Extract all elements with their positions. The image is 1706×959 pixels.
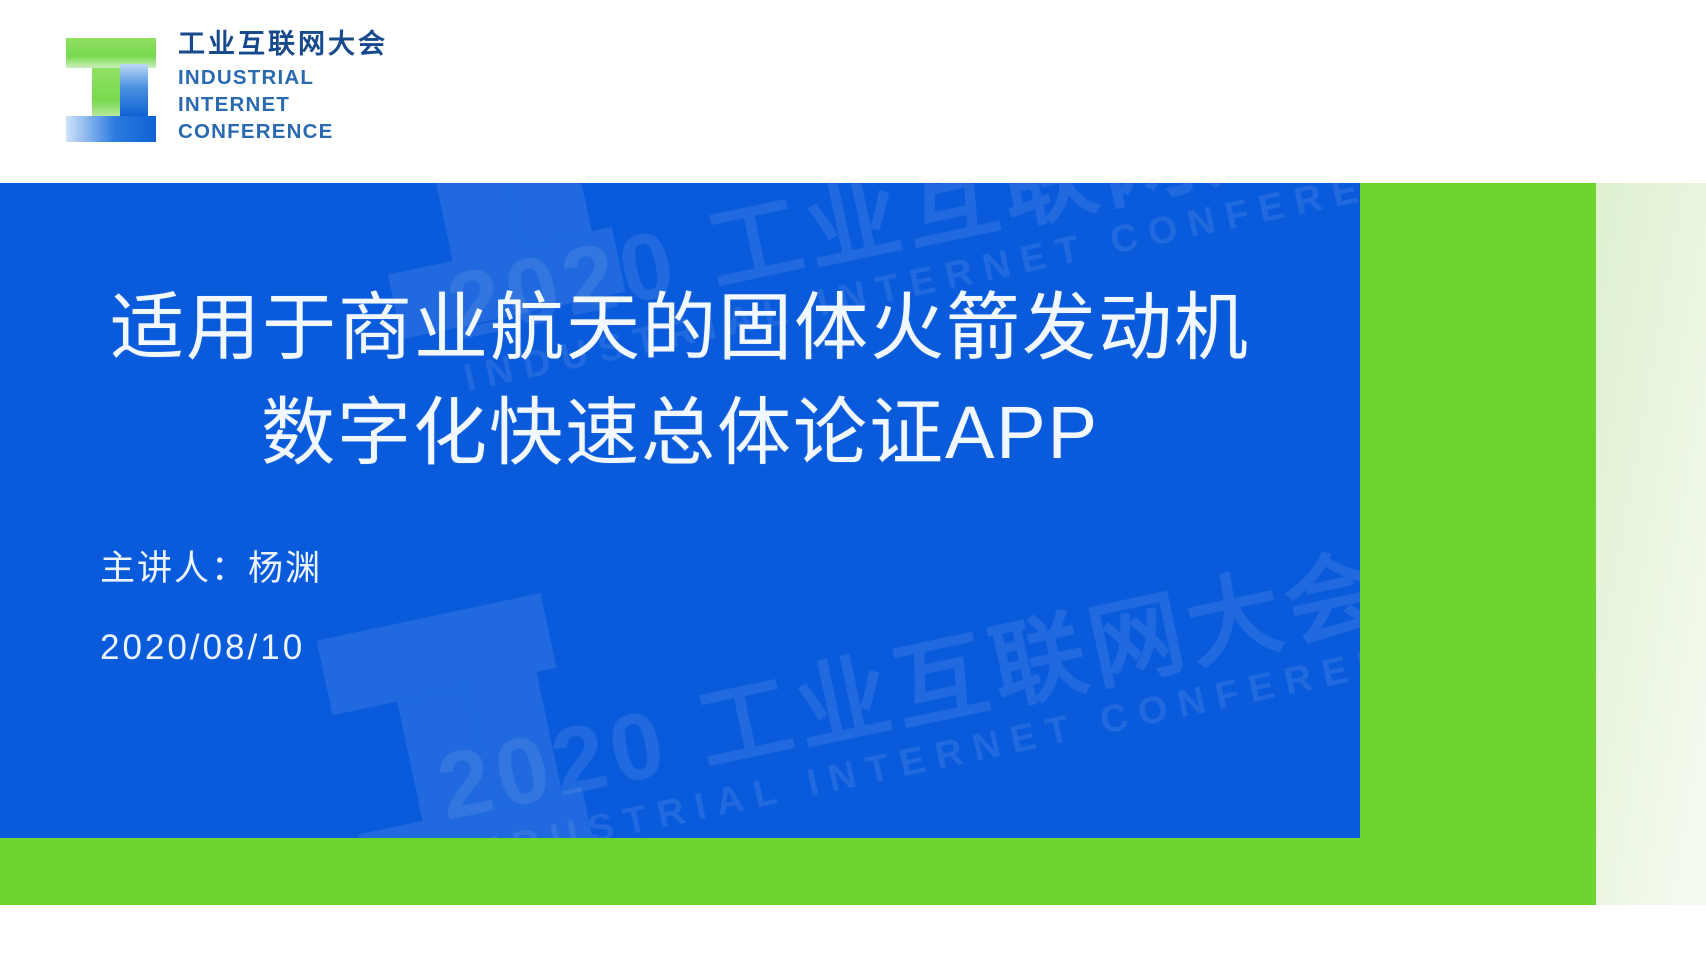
date-label: 2020/08/10 xyxy=(100,630,322,665)
watermark-text-bottom: 2020 工业互联网大会 INDUSTRIAL INTERNET CONFERE… xyxy=(430,527,1360,838)
presenter-label: 主讲人：杨渊 xyxy=(100,551,322,586)
logo-en-line-2: INTERNET xyxy=(178,92,388,119)
slide-meta: 主讲人：杨渊 2020/08/10 xyxy=(100,551,322,665)
title-line-2: 数字化快速总体论证APP xyxy=(0,380,1360,485)
title-line-1: 适用于商业航天的固体火箭发动机 xyxy=(0,275,1360,380)
watermark-bottom-en: INDUSTRIAL INTERNET CONFERENCE xyxy=(451,625,1360,838)
logo-wordmark: 工业互联网大会 INDUSTRIAL INTERNET CONFERENCE xyxy=(178,26,388,145)
logo-chinese-name: 工业互联网大会 xyxy=(178,30,388,58)
slide-title: 适用于商业航天的固体火箭发动机 数字化快速总体论证APP xyxy=(0,275,1360,485)
pale-green-gradient-panel xyxy=(1596,183,1706,905)
title-panel: 2020 工业互联网大会 INDUSTRIAL INTERNET CONFERE… xyxy=(0,183,1360,838)
logo-en-line-1: INDUSTRIAL xyxy=(178,65,388,92)
green-accent-bottom-band xyxy=(0,838,1596,905)
slide-header: 工业互联网大会 INDUSTRIAL INTERNET CONFERENCE xyxy=(0,0,1706,183)
logo-en-line-3: CONFERENCE xyxy=(178,119,388,146)
slide-root: 工业互联网大会 INDUSTRIAL INTERNET CONFERENCE xyxy=(0,0,1706,959)
watermark-bottom-cn: 2020 工业互联网大会 xyxy=(430,527,1360,834)
conference-logo: 工业互联网大会 INDUSTRIAL INTERNET CONFERENCE xyxy=(62,26,388,145)
green-accent-right-strip xyxy=(1360,183,1596,905)
iic-tl-monogram-icon xyxy=(62,26,160,144)
logo-english-name: INDUSTRIAL INTERNET CONFERENCE xyxy=(178,65,388,145)
watermark-monogram-bottom xyxy=(300,561,608,838)
